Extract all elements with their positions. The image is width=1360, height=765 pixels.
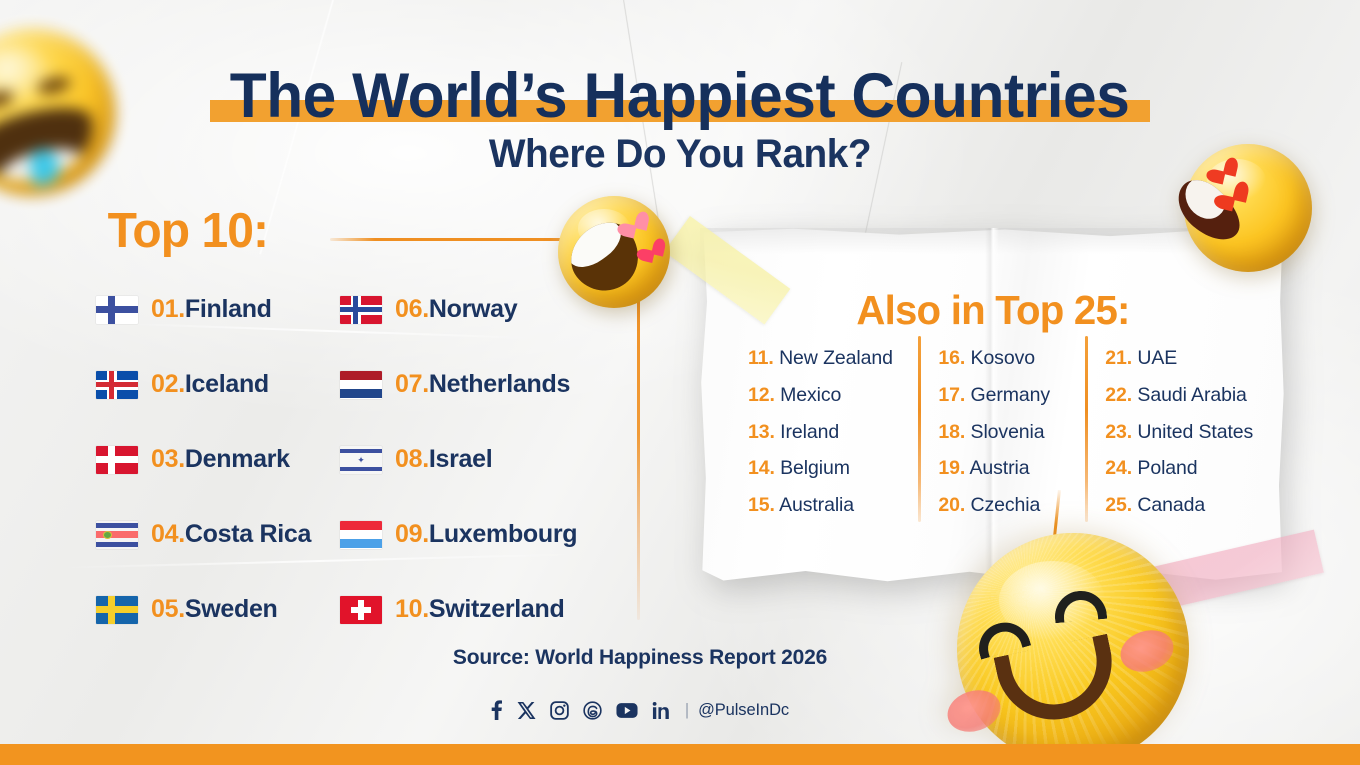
list-item-rank: 01.: [151, 295, 185, 323]
list-item-label: 01.Finland: [151, 295, 272, 324]
list-item-label: 02.Iceland: [151, 370, 269, 399]
list-item-rank: 12.: [748, 384, 775, 406]
list-item-country: New Zealand: [779, 347, 893, 369]
facebook-icon[interactable]: [491, 700, 503, 720]
list-item-country: Ireland: [780, 421, 839, 443]
top10-column-right: 06.Norway 07.Netherlands ✦ 08.Israel: [340, 272, 577, 647]
list-item: 22. Saudi Arabia: [1105, 377, 1258, 414]
list-item: 20. Czechia: [938, 487, 1083, 524]
list-item-rank: 25.: [1105, 494, 1132, 516]
switzerland-flag: [340, 596, 382, 624]
list-item-rank: 24.: [1105, 457, 1132, 479]
list-item-label: 05.Sweden: [151, 595, 278, 624]
list-item-rank: 03.: [151, 445, 185, 473]
list-item-country: Germany: [971, 384, 1051, 406]
top10-connector-line: [330, 238, 580, 241]
list-item-country: Finland: [185, 295, 272, 323]
list-item: 03.Denmark: [96, 422, 311, 497]
heart-eyes-grin-emoji: [558, 196, 670, 308]
list-item-country: Czechia: [971, 494, 1041, 516]
youtube-icon[interactable]: [616, 702, 638, 719]
luxembourg-flag: [340, 521, 382, 549]
list-item: 11. New Zealand: [748, 340, 916, 377]
list-item-rank: 05.: [151, 595, 185, 623]
finland-flag: [96, 296, 138, 324]
list-item-country: Luxembourg: [429, 520, 577, 548]
list-item-rank: 04.: [151, 520, 185, 548]
list-item-rank: 02.: [151, 370, 185, 398]
also-top25-heading: Also in Top 25:: [706, 287, 1280, 334]
vertical-connector-line: [637, 262, 640, 620]
sweden-flag: [96, 596, 138, 624]
also-top25-card: Also in Top 25: 11. New Zealand 12. Mexi…: [700, 228, 1286, 596]
list-item: 16. Kosovo: [938, 340, 1083, 377]
israel-flag: ✦: [340, 446, 382, 474]
top10-heading: Top 10:: [108, 203, 268, 259]
column-divider: [918, 336, 921, 522]
list-item: 10.Switzerland: [340, 572, 577, 647]
list-item: 07.Netherlands: [340, 347, 577, 422]
list-item-rank: 14.: [748, 457, 775, 479]
list-item-rank: 06.: [395, 295, 429, 323]
list-item-country: Kosovo: [971, 347, 1035, 369]
netherlands-flag: [340, 371, 382, 399]
list-item: ✦ 08.Israel: [340, 422, 577, 497]
smiling-blush-emoji: [957, 533, 1189, 765]
page-subtitle: Where Do You Rank?: [20, 132, 1339, 177]
list-item-country: Sweden: [185, 595, 278, 623]
list-item-country: Israel: [429, 445, 493, 473]
list-item-rank: 20.: [938, 494, 965, 516]
list-item-country: Costa Rica: [185, 520, 311, 548]
bottom-accent-bar: [0, 744, 1360, 765]
list-item-rank: 17.: [938, 384, 965, 406]
list-item: 06.Norway: [340, 272, 577, 347]
list-item-country: Iceland: [185, 370, 269, 398]
list-item-country: Poland: [1137, 457, 1197, 479]
list-item-rank: 22.: [1105, 384, 1132, 406]
costa-rica-flag: [96, 521, 138, 549]
list-item-country: Mexico: [780, 384, 841, 406]
list-item: 01.Finland: [96, 272, 311, 347]
also-top25-list: 11. New Zealand 12. Mexico 13. Ireland 1…: [738, 340, 1258, 524]
x-twitter-icon[interactable]: [517, 701, 536, 720]
list-item: 25. Canada: [1105, 487, 1258, 524]
list-item-rank: 19.: [938, 457, 965, 479]
list-item-rank: 10.: [395, 595, 429, 623]
list-item-label: 04.Costa Rica: [151, 520, 311, 549]
list-item-country: Denmark: [185, 445, 290, 473]
list-item-country: Canada: [1137, 494, 1205, 516]
also-column-1: 11. New Zealand 12. Mexico 13. Ireland 1…: [738, 340, 916, 524]
list-item-country: Austria: [969, 457, 1029, 479]
threads-icon[interactable]: [583, 701, 602, 720]
list-item: 02.Iceland: [96, 347, 311, 422]
list-item-label: 10.Switzerland: [395, 595, 564, 624]
list-item: 05.Sweden: [96, 572, 311, 647]
norway-flag: [340, 296, 382, 324]
infographic-canvas: The World’s Happiest Countries Where Do …: [0, 0, 1360, 765]
list-item: 13. Ireland: [748, 414, 916, 451]
list-item-rank: 18.: [938, 421, 965, 443]
list-item-rank: 21.: [1105, 347, 1132, 369]
title-text: The World’s Happiest Countries: [230, 63, 1130, 129]
instagram-icon[interactable]: [550, 701, 569, 720]
list-item-country: Netherlands: [429, 370, 570, 398]
list-item: 14. Belgium: [748, 450, 916, 487]
list-item-label: 08.Israel: [395, 445, 492, 474]
top10-column-left: 01.Finland 02.Iceland 03.Denmark: [96, 272, 311, 647]
list-item: 09.Luxembourg: [340, 497, 577, 572]
list-item-label: 06.Norway: [395, 295, 517, 324]
list-item-rank: 09.: [395, 520, 429, 548]
list-item: 15. Australia: [748, 487, 916, 524]
denmark-flag: [96, 446, 138, 474]
list-item-label: 07.Netherlands: [395, 370, 570, 399]
handle-text: @PulseInDc: [698, 701, 789, 720]
list-item-rank: 07.: [395, 370, 429, 398]
heart-eyes-emoji: [1184, 144, 1312, 272]
list-item-rank: 16.: [938, 347, 965, 369]
list-item-label: 09.Luxembourg: [395, 520, 577, 549]
column-divider: [1085, 336, 1088, 522]
list-item-rank: 23.: [1105, 421, 1132, 443]
list-item-rank: 13.: [748, 421, 775, 443]
page-title: The World’s Happiest Countries: [0, 63, 1360, 129]
list-item-country: Slovenia: [971, 421, 1045, 443]
list-item: 21. UAE: [1105, 340, 1258, 377]
list-item: 24. Poland: [1105, 450, 1258, 487]
list-item: 23. United States: [1105, 414, 1258, 451]
list-item-rank: 11.: [748, 347, 774, 369]
list-item-country: Australia: [779, 494, 854, 516]
social-handle: | @PulseInDc: [685, 701, 789, 720]
list-item-rank: 15.: [748, 494, 775, 516]
list-item-country: Switzerland: [429, 595, 565, 623]
list-item: 18. Slovenia: [938, 414, 1083, 451]
handle-separator: |: [685, 701, 689, 720]
list-item: 04.Costa Rica: [96, 497, 311, 572]
list-item: 19. Austria: [938, 450, 1083, 487]
list-item-country: United States: [1137, 421, 1253, 443]
list-item-rank: 08.: [395, 445, 429, 473]
list-item-country: Norway: [429, 295, 518, 323]
list-item-country: UAE: [1137, 347, 1177, 369]
list-item-country: Saudi Arabia: [1137, 384, 1246, 406]
linkedin-icon[interactable]: [652, 701, 671, 720]
also-column-3: 21. UAE 22. Saudi Arabia 23. United Stat…: [1083, 340, 1258, 524]
list-item-label: 03.Denmark: [151, 445, 290, 474]
list-item-country: Belgium: [780, 457, 850, 479]
list-item: 17. Germany: [938, 377, 1083, 414]
list-item: 12. Mexico: [748, 377, 916, 414]
iceland-flag: [96, 371, 138, 399]
